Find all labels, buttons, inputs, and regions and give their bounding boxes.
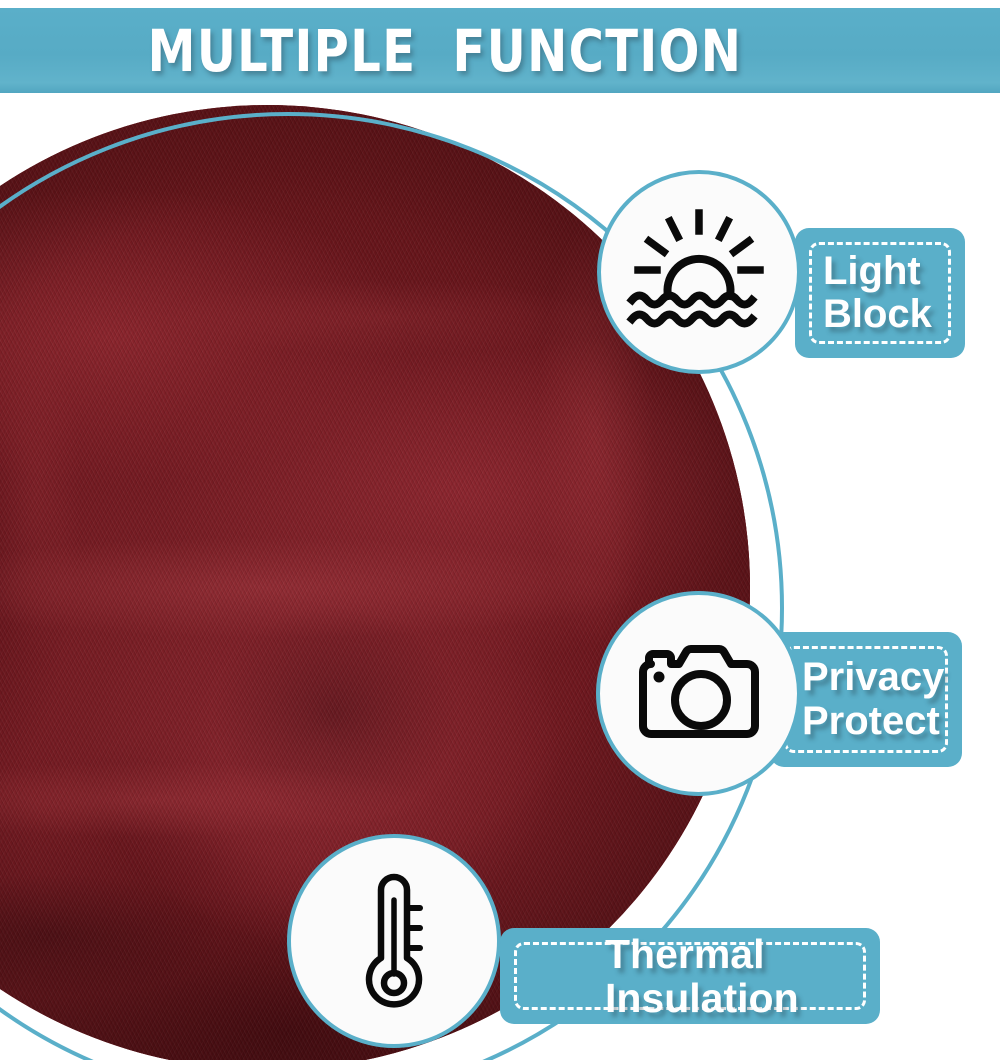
camera-icon xyxy=(629,624,769,764)
icon-badge-thermal-insulation xyxy=(287,834,501,1048)
page-title: MULTIPLE FUNCTION xyxy=(147,22,852,80)
feature-badge-thermal-insulation: Thermal Insulation xyxy=(500,928,880,1024)
infographic-canvas: MULTIPLE FUNCTION Light Block Privacy Pr… xyxy=(0,0,1000,1060)
thermometer-icon xyxy=(319,866,469,1016)
feature-label-privacy-protect: Privacy Protect xyxy=(802,656,944,742)
feature-badge-light-block: Light Block xyxy=(795,228,965,358)
header-banner: MULTIPLE FUNCTION xyxy=(0,8,1000,93)
feature-label-light-block: Light Block xyxy=(823,250,932,336)
icon-badge-privacy-protect xyxy=(596,591,801,796)
icon-badge-light-block xyxy=(597,170,801,374)
camera-flash-dot xyxy=(653,671,664,682)
sunrise-icon xyxy=(624,197,774,347)
feature-label-thermal-insulation: Thermal Insulation xyxy=(605,932,880,1021)
